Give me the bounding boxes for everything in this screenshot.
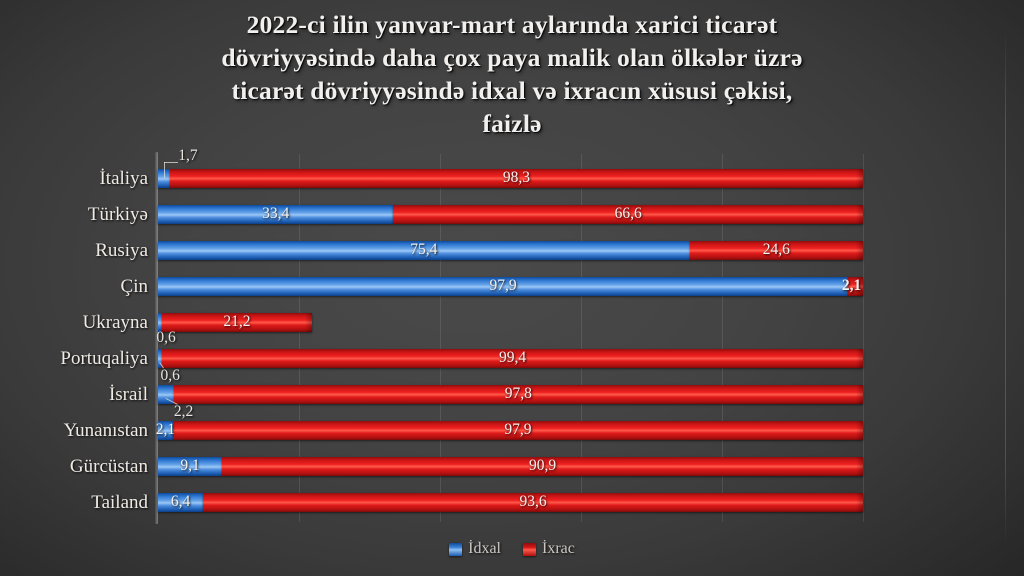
bar-row [158, 241, 863, 260]
bar-end-cap [856, 421, 863, 440]
value-label-ixrac: 99,4 [499, 349, 526, 367]
legend-item-ixrac[interactable]: İxrac [523, 540, 575, 558]
bar-end-cap [856, 457, 863, 476]
value-label-idxal: 9,1 [180, 457, 199, 475]
value-label-ixrac: 21,2 [223, 313, 250, 331]
legend-label: İdxal [468, 540, 501, 558]
y-axis-label: Tailand [0, 493, 148, 512]
bar-end-cap [856, 241, 863, 260]
bar-end-cap [305, 313, 312, 332]
value-label-ixrac: 66,6 [615, 205, 642, 223]
y-axis-label: Çin [0, 277, 148, 296]
value-label-idxal: 0,6 [161, 367, 180, 385]
bar-end-cap [856, 349, 863, 368]
value-label-ixrac: 93,6 [519, 493, 546, 511]
value-label-idxal: 2,2 [174, 403, 193, 421]
y-axis-label: Portuqaliya [0, 349, 148, 368]
bar-row [158, 313, 863, 332]
value-label-idxal: 33,4 [262, 205, 289, 223]
y-axis-label: Rusiya [0, 241, 148, 260]
value-label-ixrac: 97,9 [504, 421, 531, 439]
y-axis-category-labels: İtaliyaTürkiyəRusiyaÇinUkraynaPortuqaliy… [0, 160, 148, 520]
bar-end-cap [856, 205, 863, 224]
bar-end-cap [856, 493, 863, 512]
y-axis-label: Gürcüstan [0, 457, 148, 476]
y-axis-label: İtaliya [0, 169, 148, 188]
bar-end-cap [856, 169, 863, 188]
chart-title: 2022-ci ilin yanvar-mart aylarında xaric… [112, 8, 912, 141]
value-label-idxal: 2,1 [156, 421, 175, 439]
bar-end-cap [856, 385, 863, 404]
leader-line [164, 162, 165, 178]
value-label-idxal: 97,9 [490, 277, 517, 295]
plot-area: 1,798,333,466,675,424,697,92,10,621,20,6… [158, 160, 863, 520]
legend-item-idxal[interactable]: İdxal [449, 540, 501, 558]
chart-legend: İdxalİxrac [0, 540, 1024, 558]
legend-swatch-icon [523, 543, 536, 556]
value-label-ixrac: 90,9 [529, 457, 556, 475]
gridline [863, 154, 864, 522]
value-label-ixrac: 98,3 [503, 169, 530, 187]
bar-row [158, 493, 863, 512]
value-label-idxal: 6,4 [171, 493, 190, 511]
value-label-ixrac: 97,8 [505, 385, 532, 403]
value-label-ixrac: 24,6 [763, 241, 790, 259]
value-label-idxal: 1,7 [178, 147, 197, 165]
legend-label: İxrac [542, 540, 575, 558]
value-label-idxal: 75,4 [410, 241, 437, 259]
value-label-ixrac: 2,1 [842, 277, 861, 295]
y-axis-label: Türkiyə [0, 205, 148, 224]
legend-swatch-icon [449, 543, 462, 556]
y-axis-label: İsrail [0, 385, 148, 404]
y-axis-label: Yunanıstan [0, 421, 148, 440]
stacked-bar-chart: 2022-ci ilin yanvar-mart aylarında xaric… [0, 0, 1024, 576]
y-axis-label: Ukrayna [0, 313, 148, 332]
bar-row [158, 457, 863, 476]
leader-line [164, 162, 178, 163]
value-label-idxal: 0,6 [156, 329, 175, 347]
